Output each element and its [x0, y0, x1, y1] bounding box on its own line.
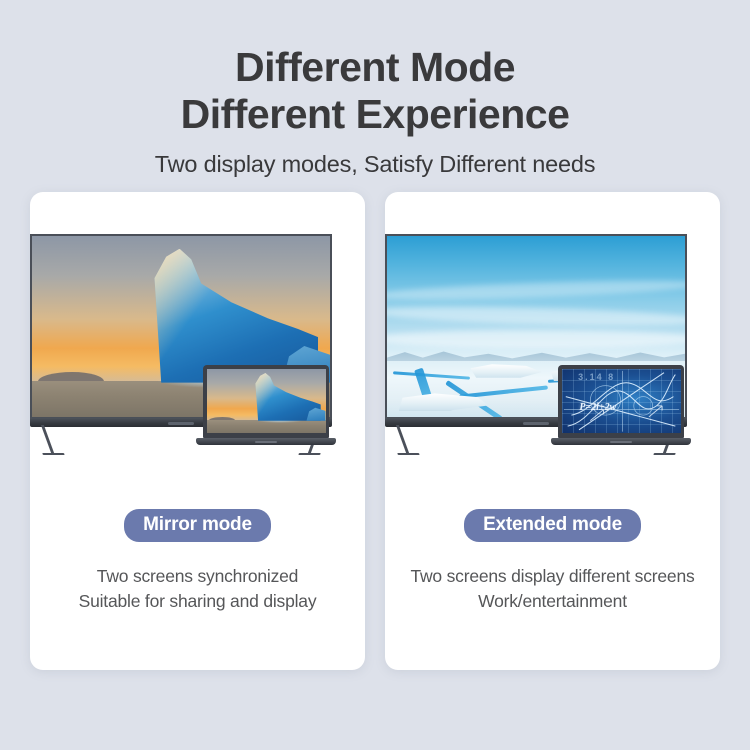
laptop-screen-mirror [207, 369, 326, 434]
blackboard-top-text: 3.14 8 [578, 372, 615, 382]
caption-line-2: Suitable for sharing and display [30, 589, 365, 614]
tv-leg-left [396, 425, 409, 453]
badge-wrap-mirror: Mirror mode [30, 509, 365, 542]
card-mirror-mode[interactable]: Mirror mode Two screens synchronized Sui… [30, 192, 365, 670]
math-blackboard: 3.14 8 P=2l+2w [562, 369, 681, 434]
status-badge-mirror-mode: Mirror mode [124, 509, 271, 542]
headline-line-1: Different Mode [0, 44, 750, 91]
caption-extended: Two screens display different screens Wo… [385, 564, 720, 614]
status-badge-extended-mode: Extended mode [464, 509, 641, 542]
page-subtitle: Two display modes, Satisfy Different nee… [0, 151, 750, 178]
badge-wrap-extended: Extended mode [385, 509, 720, 542]
mirrored-sunset-iceberg [207, 369, 326, 434]
laptop-lid: 3.14 8 P=2l+2w [558, 365, 684, 438]
laptop-base [551, 438, 691, 445]
tv-leg-left [41, 425, 54, 453]
page-title: Different Mode Different Experience [0, 44, 750, 137]
laptop-mirror [203, 365, 329, 445]
laptop-lid [203, 365, 329, 438]
laptop-screen-extended: 3.14 8 P=2l+2w [562, 369, 681, 434]
scene-mirror [30, 234, 365, 479]
caption-line-1: Two screens synchronized [30, 564, 365, 589]
mode-cards: Mirror mode Two screens synchronized Sui… [30, 192, 720, 670]
caption-line-2: Work/entertainment [385, 589, 720, 614]
card-extended-mode[interactable]: 3.14 8 P=2l+2w Extended mode Two screens… [385, 192, 720, 670]
header: Different Mode Different Experience Two … [0, 0, 750, 178]
cloud-wisp [385, 330, 687, 348]
caption-line-1: Two screens display different screens [385, 564, 720, 589]
ice-crack [393, 372, 470, 380]
scene-extended: 3.14 8 P=2l+2w [385, 234, 720, 479]
headline-line-2: Different Experience [0, 91, 750, 138]
blackboard-formula: P=2l+2w [579, 402, 616, 413]
laptop-base [196, 438, 336, 445]
caption-mirror: Two screens synchronized Suitable for sh… [30, 564, 365, 614]
ice-floe [470, 364, 542, 377]
laptop-extended: 3.14 8 P=2l+2w [558, 365, 684, 445]
